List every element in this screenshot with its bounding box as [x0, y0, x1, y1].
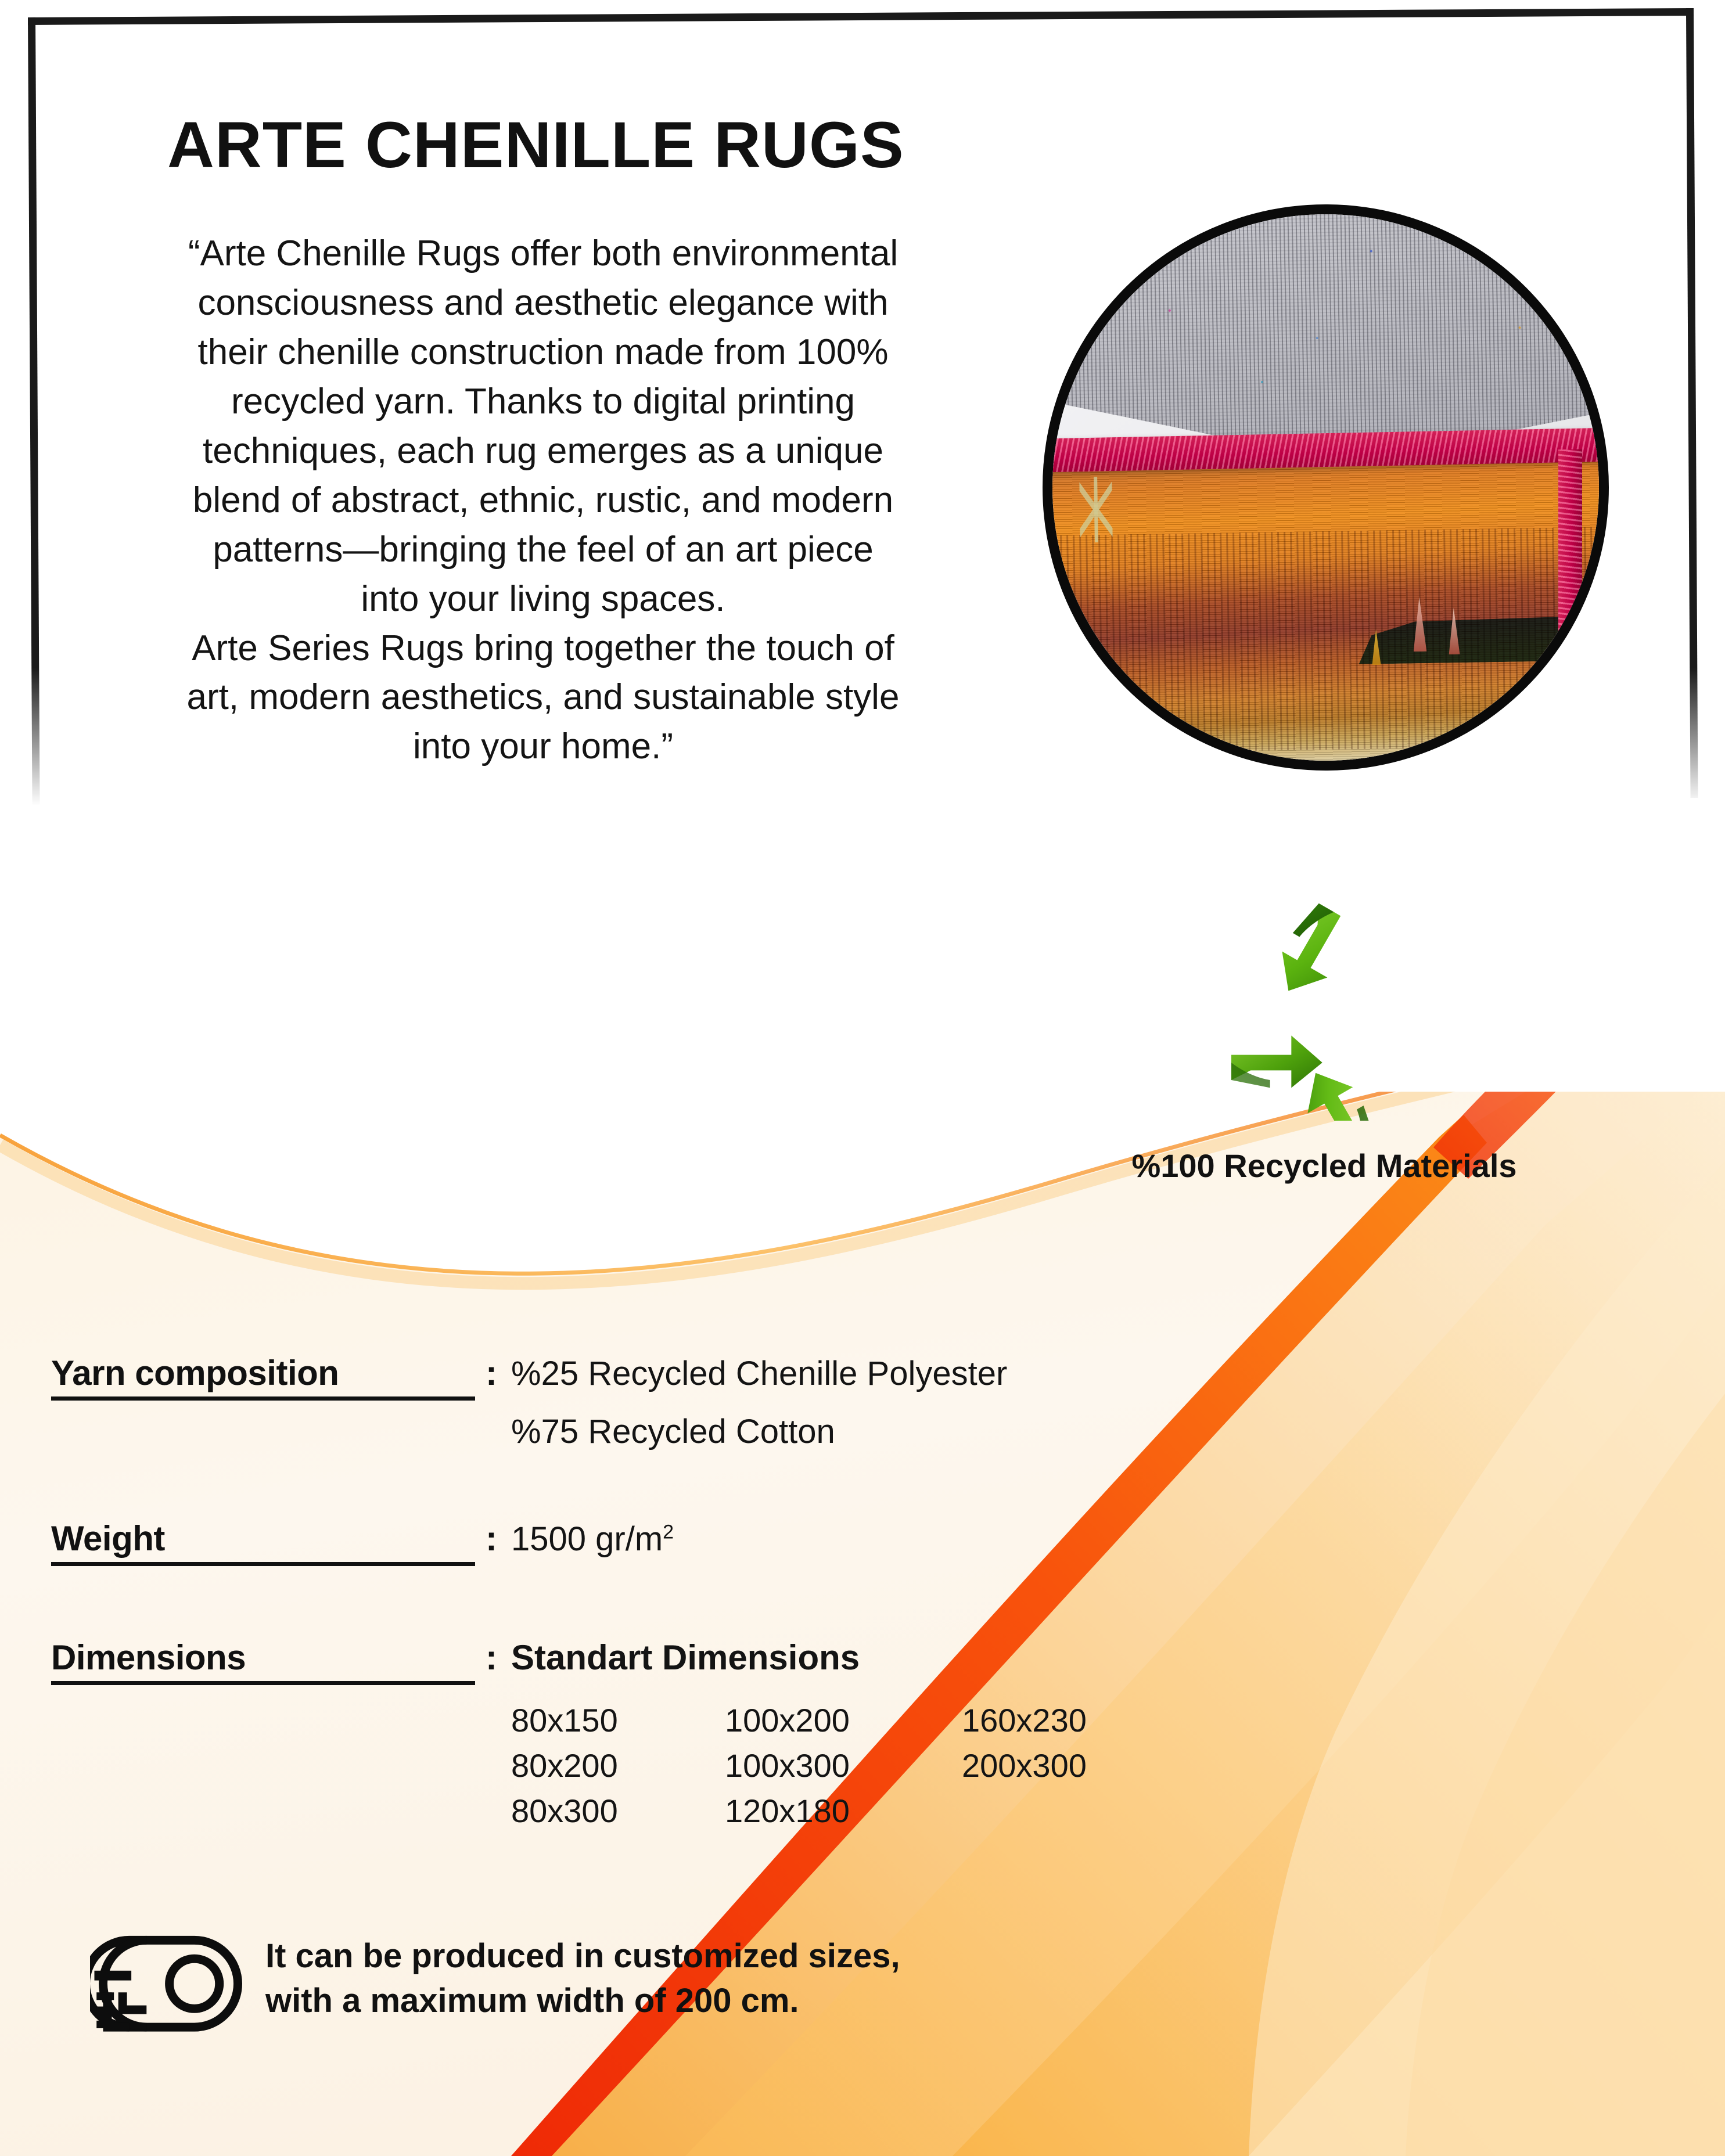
custom-size-note-text: It can be produced in customized sizes, …: [265, 1931, 900, 2023]
spec-value: Standart Dimensions: [511, 1637, 860, 1678]
dimension-cell: 100x300: [725, 1747, 962, 1792]
spec-colon: :: [486, 1518, 497, 1558]
dimension-cell: [962, 1792, 1194, 1837]
custom-size-note: It can be produced in customized sizes, …: [90, 1931, 900, 2041]
spec-underline: [51, 1396, 475, 1401]
dimensions-grid: 80x150 100x200 160x230 80x200 100x300 20…: [511, 1701, 1194, 1837]
spec-value: 1500 gr/m2: [511, 1520, 674, 1558]
spec-value: %25 Recycled Chenille Polyester: [511, 1354, 1007, 1393]
dimension-cell: 160x230: [962, 1701, 1194, 1747]
poster-page: ARTE CHENILLE RUGS “Arte Chenille Rugs o…: [0, 0, 1725, 2156]
spec-value: %75 Recycled Cotton: [511, 1412, 835, 1451]
note-line: It can be produced in customized sizes,: [265, 1934, 900, 1979]
spec-label-dimensions: Dimensions: [51, 1637, 246, 1678]
dimension-cell: 200x300: [962, 1747, 1194, 1792]
spec-value-superscript: 2: [663, 1521, 674, 1543]
spec-value-text: 1500 gr/m: [511, 1520, 663, 1558]
spec-underline: [51, 1562, 475, 1566]
tape-measure-icon: [90, 1931, 242, 2041]
spec-colon: :: [486, 1353, 497, 1393]
dimension-cell: 80x150: [511, 1701, 725, 1747]
note-line: with a maximum width of 200 cm.: [265, 1979, 900, 2024]
spec-label-weight: Weight: [51, 1518, 165, 1558]
spec-colon: :: [486, 1637, 497, 1678]
spec-label-yarn-composition: Yarn composition: [51, 1353, 339, 1393]
dimension-cell: 80x200: [511, 1747, 725, 1792]
spec-underline: [51, 1681, 475, 1685]
dimension-cell: 120x180: [725, 1792, 962, 1837]
dimension-cell: 100x200: [725, 1701, 962, 1747]
dimension-cell: 80x300: [511, 1792, 725, 1837]
